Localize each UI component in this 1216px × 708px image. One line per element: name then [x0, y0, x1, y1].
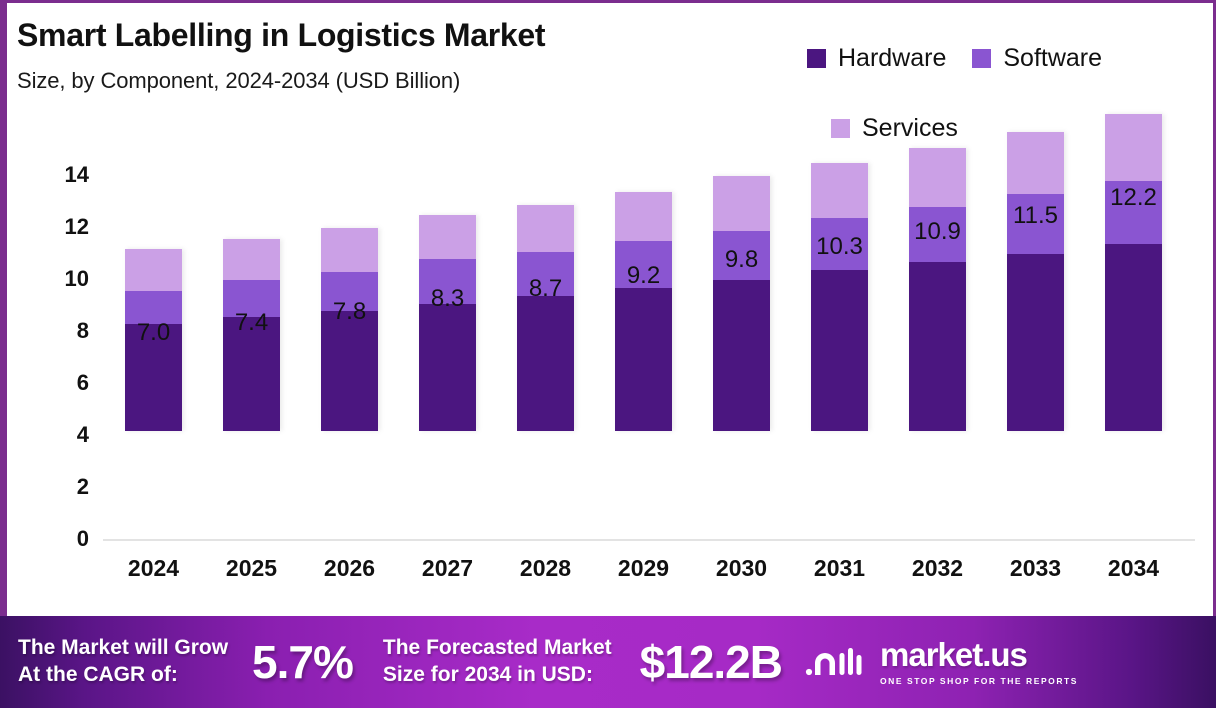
bar-segment-services[interactable]: [419, 215, 476, 259]
brand-wordmark: market.us ONE STOP SHOP FOR THE REPORTS: [880, 638, 1078, 686]
cagr-value: 5.7%: [252, 635, 353, 689]
bar-segment-hardware[interactable]: [1105, 244, 1162, 431]
bar-segment-hardware[interactable]: [615, 288, 672, 431]
bar-segment-hardware[interactable]: [909, 262, 966, 431]
bar-stack[interactable]: [811, 163, 868, 431]
bar-segment-hardware[interactable]: [1007, 254, 1064, 431]
forecast-value: $12.2B: [640, 635, 782, 689]
y-tick-label: 2: [43, 474, 89, 500]
brand-tagline: ONE STOP SHOP FOR THE REPORTS: [880, 676, 1078, 686]
summary-banner: The Market will Grow At the CAGR of: 5.7…: [0, 616, 1216, 708]
bar-segment-services[interactable]: [713, 176, 770, 231]
bar-stack[interactable]: [517, 205, 574, 431]
bar-segment-services[interactable]: [125, 249, 182, 291]
bar-segment-services[interactable]: [909, 148, 966, 208]
y-tick-label: 4: [43, 422, 89, 448]
y-tick-label: 12: [43, 214, 89, 240]
bar-segment-hardware[interactable]: [713, 280, 770, 431]
forecast-caption: The Forecasted Market Size for 2034 in U…: [383, 635, 612, 689]
market-us-logo-icon: [804, 642, 868, 682]
bar-segment-services[interactable]: [615, 192, 672, 241]
bar-stack[interactable]: [909, 148, 966, 431]
bar-stack[interactable]: [1007, 132, 1064, 431]
y-tick-label: 6: [43, 370, 89, 396]
brand-name: market.us: [880, 638, 1078, 671]
y-tick-label: 10: [43, 266, 89, 292]
bar-segment-services[interactable]: [1007, 132, 1064, 194]
bar-stack[interactable]: [419, 215, 476, 431]
bar-segment-hardware[interactable]: [517, 296, 574, 431]
bar-stack[interactable]: [321, 228, 378, 431]
plot-area: 02468101214 7.07.47.88.38.79.29.810.310.…: [7, 3, 1213, 603]
bar-segment-hardware[interactable]: [811, 270, 868, 431]
bar-stack[interactable]: [713, 176, 770, 431]
bar-segment-services[interactable]: [321, 228, 378, 272]
bar-segment-services[interactable]: [517, 205, 574, 252]
forecast-caption-line2: Size for 2034 in USD:: [383, 662, 612, 689]
bar-segment-services[interactable]: [223, 239, 280, 281]
x-axis-baseline: [103, 539, 1195, 541]
bar-stack[interactable]: [615, 192, 672, 431]
y-tick-label: 14: [43, 162, 89, 188]
chart-page: Smart Labelling in Logistics Market Size…: [0, 0, 1216, 708]
cagr-caption-line1: The Market will Grow: [18, 635, 228, 662]
bar-segment-services[interactable]: [1105, 114, 1162, 182]
bar-stack[interactable]: [1105, 114, 1162, 431]
cagr-caption-line2: At the CAGR of:: [18, 662, 228, 689]
bar-segment-services[interactable]: [811, 163, 868, 218]
y-tick-label: 0: [43, 526, 89, 552]
forecast-caption-line1: The Forecasted Market: [383, 635, 612, 662]
x-tick-label: 2034: [1074, 555, 1194, 582]
y-tick-label: 8: [43, 318, 89, 344]
bar-segment-hardware[interactable]: [321, 311, 378, 431]
brand-logo[interactable]: market.us ONE STOP SHOP FOR THE REPORTS: [804, 638, 1078, 686]
bar-total-label: 12.2: [1074, 184, 1194, 212]
cagr-caption: The Market will Grow At the CAGR of:: [18, 635, 228, 689]
bar-segment-hardware[interactable]: [419, 304, 476, 431]
